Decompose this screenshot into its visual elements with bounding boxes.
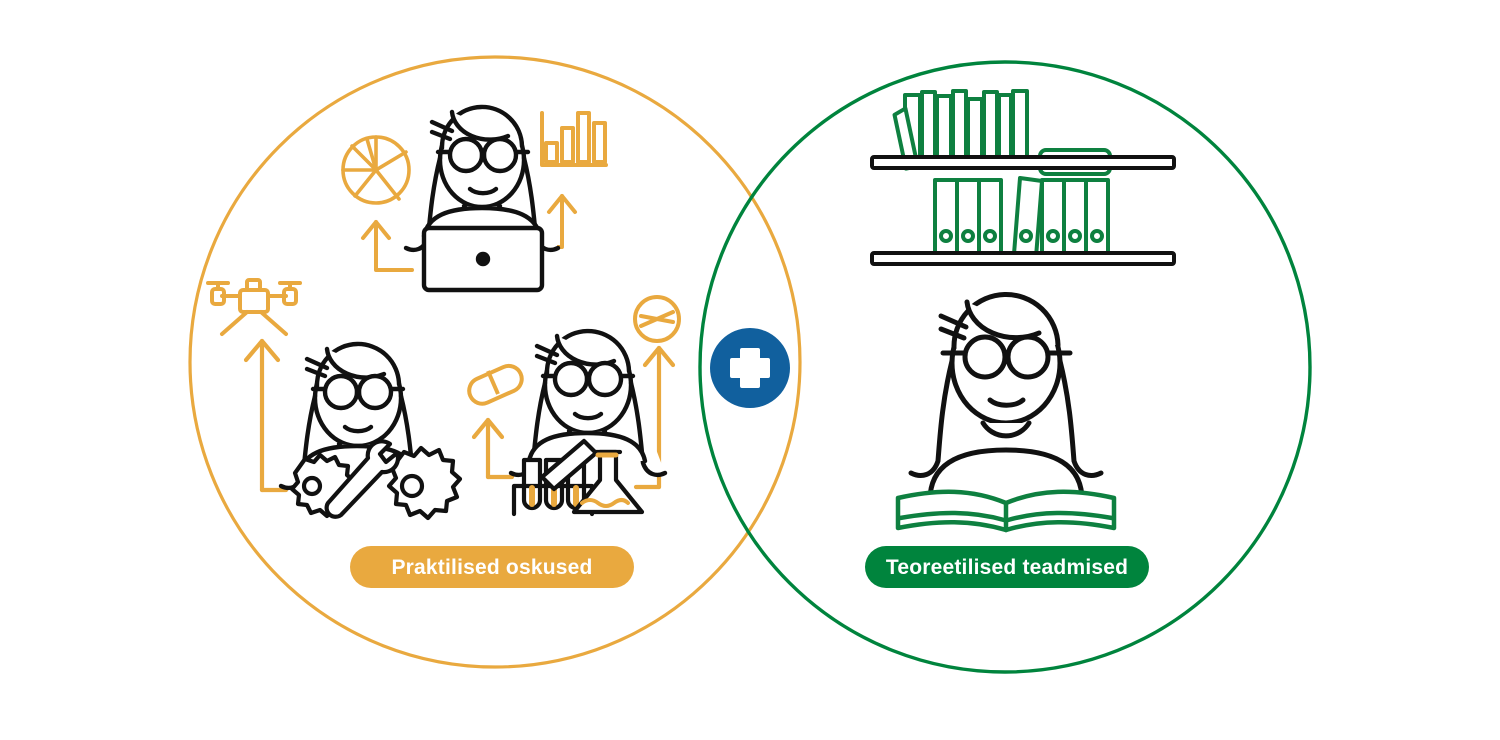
diagram-canvas: Praktilised oskused Teoreetilised teadmi…	[0, 0, 1500, 740]
arrow-lab-to-capsule	[474, 420, 512, 477]
right-group-content	[872, 91, 1174, 530]
left-group-content	[208, 107, 679, 518]
shelf-board-top	[872, 157, 1174, 168]
bar-chart-icon	[542, 113, 606, 165]
person-reading-icon	[911, 294, 1101, 500]
plus-badge	[710, 328, 790, 408]
pie-chart-icon	[343, 137, 409, 203]
right-label-pill[interactable]: Teoreetilised teadmised	[865, 546, 1149, 588]
venn-diagram-svg: Praktilised oskused Teoreetilised teadmi…	[0, 0, 1500, 740]
capsule-pill-icon	[465, 362, 526, 408]
binder-folders-icon	[935, 178, 1108, 257]
drone-icon	[208, 280, 300, 334]
arrow-gears-to-drone	[246, 341, 286, 490]
person-with-laptop-icon	[406, 107, 558, 290]
arrow-laptop-to-piechart	[363, 222, 412, 270]
left-pill-label: Praktilised oskused	[391, 556, 592, 579]
right-pill-label: Teoreetilised teadmised	[886, 556, 1128, 579]
tablet-pill-icon	[635, 297, 679, 341]
shelf-board-bottom	[872, 253, 1174, 264]
left-label-pill[interactable]: Praktilised oskused	[350, 546, 634, 588]
